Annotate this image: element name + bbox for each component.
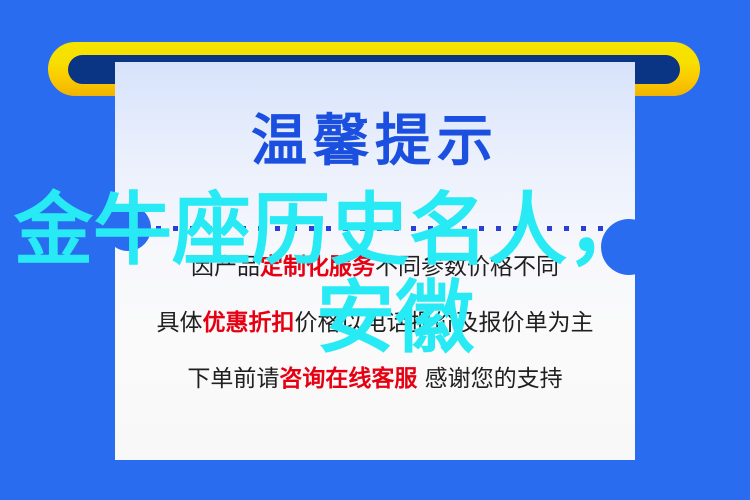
image-canvas: 温馨提示 因产品定制化服务不同参数价格不同 具体优惠折扣价格以电话报价及报价单为…	[0, 0, 750, 500]
notice-line-3-part-1: 下单前请	[187, 366, 279, 392]
notice-line-1-part-3: 不同参数价格不同	[375, 254, 559, 280]
notice-line-2: 具体优惠折扣价格以电话报价及报价单为主	[115, 312, 635, 335]
notice-lines: 因产品定制化服务不同参数价格不同 具体优惠折扣价格以电话报价及报价单为主 下单前…	[115, 256, 635, 424]
notice-line-1-highlight: 定制化服务	[260, 254, 375, 280]
notice-line-2-part-1: 具体	[157, 310, 203, 336]
dotted-divider	[122, 226, 632, 231]
page-title: 温馨提示	[115, 114, 635, 170]
notice-line-2-highlight: 优惠折扣	[203, 310, 295, 336]
decorative-circle-left	[105, 205, 151, 251]
notice-line-1: 因产品定制化服务不同参数价格不同	[115, 256, 635, 279]
notice-line-3: 下单前请咨询在线客服 感谢您的支持	[115, 368, 635, 391]
notice-line-2-part-3: 价格以电话报价及报价单为主	[295, 310, 594, 336]
notice-line-3-part-3: 感谢您的支持	[417, 366, 562, 392]
notice-line-3-highlight: 咨询在线客服	[279, 366, 417, 392]
notice-line-1-part-1: 因产品	[191, 254, 260, 280]
notice-card: 温馨提示 因产品定制化服务不同参数价格不同 具体优惠折扣价格以电话报价及报价单为…	[115, 62, 635, 460]
decorative-circle-right	[601, 219, 657, 275]
